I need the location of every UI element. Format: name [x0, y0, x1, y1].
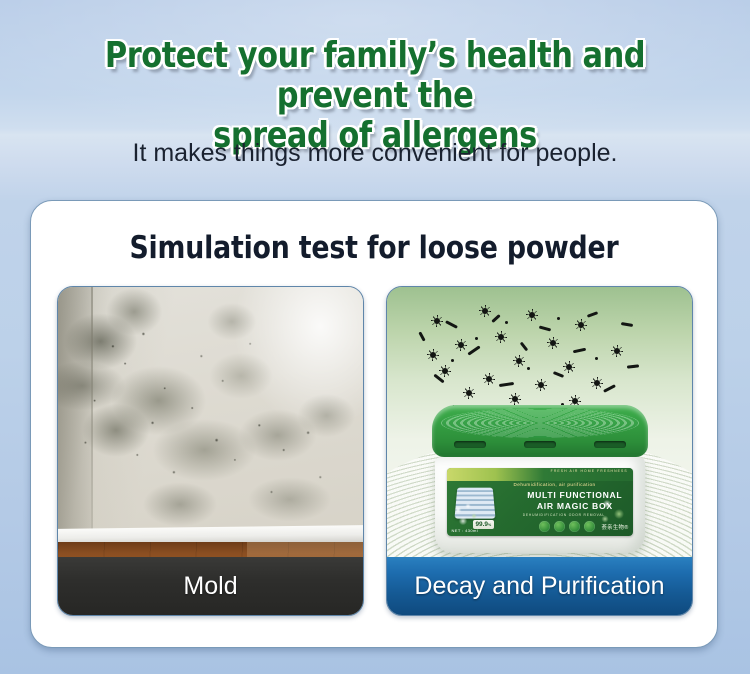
label-subtitle: Dehumidification, air purification: [513, 482, 595, 487]
product-lid: [432, 405, 648, 457]
card-title: Simulation test for loose powder: [45, 230, 704, 266]
feature-badge-icon: [584, 521, 595, 532]
germ-icon: [535, 379, 547, 391]
dot-particle: [451, 359, 454, 362]
dot-particle: [595, 357, 598, 360]
rod-particle: [491, 314, 500, 323]
germ-icon: [439, 365, 451, 377]
germ-icon: [455, 339, 467, 351]
panel-decay-purification[interactable]: FRESH AIR HOME FRESHNESS Dehumidificatio…: [386, 286, 693, 616]
brand-mark: 荟亲生物®: [601, 523, 628, 531]
germ-icon: [463, 387, 475, 399]
panel-caption-decay-purification: Decay and Purification: [387, 557, 692, 615]
germ-icon: [563, 361, 575, 373]
feature-badge-icon: [539, 521, 550, 532]
feature-badge-icon: [554, 521, 565, 532]
germ-icon: [611, 345, 623, 357]
wall-corner-seam: [91, 287, 93, 534]
vent-slot: [594, 441, 626, 448]
product-tub: FRESH AIR HOME FRESHNESS Dehumidificatio…: [435, 457, 645, 553]
efficacy-value: 99.9: [476, 521, 488, 528]
rod-particle: [573, 348, 586, 354]
feature-badges: [539, 521, 595, 532]
dot-particle: [505, 321, 508, 324]
panel-caption-mold: Mold: [58, 557, 363, 615]
germ-icon: [526, 309, 538, 321]
headline-line-1: Protect your family’s health and prevent…: [105, 35, 645, 116]
dot-particle: [475, 337, 478, 340]
rod-particle: [520, 342, 529, 352]
dot-particle: [557, 317, 560, 320]
germ-icon: [591, 377, 603, 389]
germ-icon: [427, 349, 439, 361]
efficacy-unit: %: [488, 523, 491, 527]
caption-text: Decay and Purification: [414, 572, 664, 601]
rod-particle: [418, 331, 425, 341]
net-weight: NET : 430ml: [452, 528, 479, 533]
rod-particle: [467, 345, 480, 355]
germ-icon: [509, 393, 521, 405]
vent-slot: [524, 441, 556, 448]
feature-badge-icon: [569, 521, 580, 532]
comparison-panels: Mold: [57, 286, 693, 622]
dot-particle: [527, 367, 530, 370]
vent-slot: [454, 441, 486, 448]
rod-particle: [603, 384, 616, 393]
caption-text: Mold: [183, 572, 237, 601]
rod-particle: [445, 320, 458, 329]
panel-mold[interactable]: Mold: [57, 286, 364, 616]
product-box: FRESH AIR HOME FRESHNESS Dehumidificatio…: [432, 405, 648, 553]
label-tagline: DEHUMIDIFICATION ODOR REMOVAL: [523, 513, 605, 517]
germ-icon: [479, 305, 491, 317]
rod-particle: [627, 364, 639, 368]
rod-particle: [499, 382, 514, 387]
rod-particle: [539, 325, 551, 331]
germ-icon: [495, 331, 507, 343]
mold-wall-side: [58, 287, 91, 534]
germ-icon: [513, 355, 525, 367]
germ-icon: [575, 319, 587, 331]
germ-icon: [483, 373, 495, 385]
lid-vents: [454, 441, 626, 449]
page-subtitle: It makes things more convenient for peop…: [0, 138, 750, 168]
mold-wall: [58, 287, 363, 534]
germ-icon: [547, 337, 559, 349]
rod-particle: [587, 311, 598, 318]
lid-grille: [441, 408, 639, 438]
label-top-tiny: FRESH AIR HOME FRESHNESS: [551, 469, 628, 473]
germ-icon: [431, 315, 443, 327]
content-card: Simulation test for loose powder Mold: [30, 200, 718, 648]
product-label: FRESH AIR HOME FRESHNESS Dehumidificatio…: [447, 468, 633, 536]
rod-particle: [621, 322, 633, 327]
promo-banner: Protect your family’s health and prevent…: [0, 0, 750, 674]
